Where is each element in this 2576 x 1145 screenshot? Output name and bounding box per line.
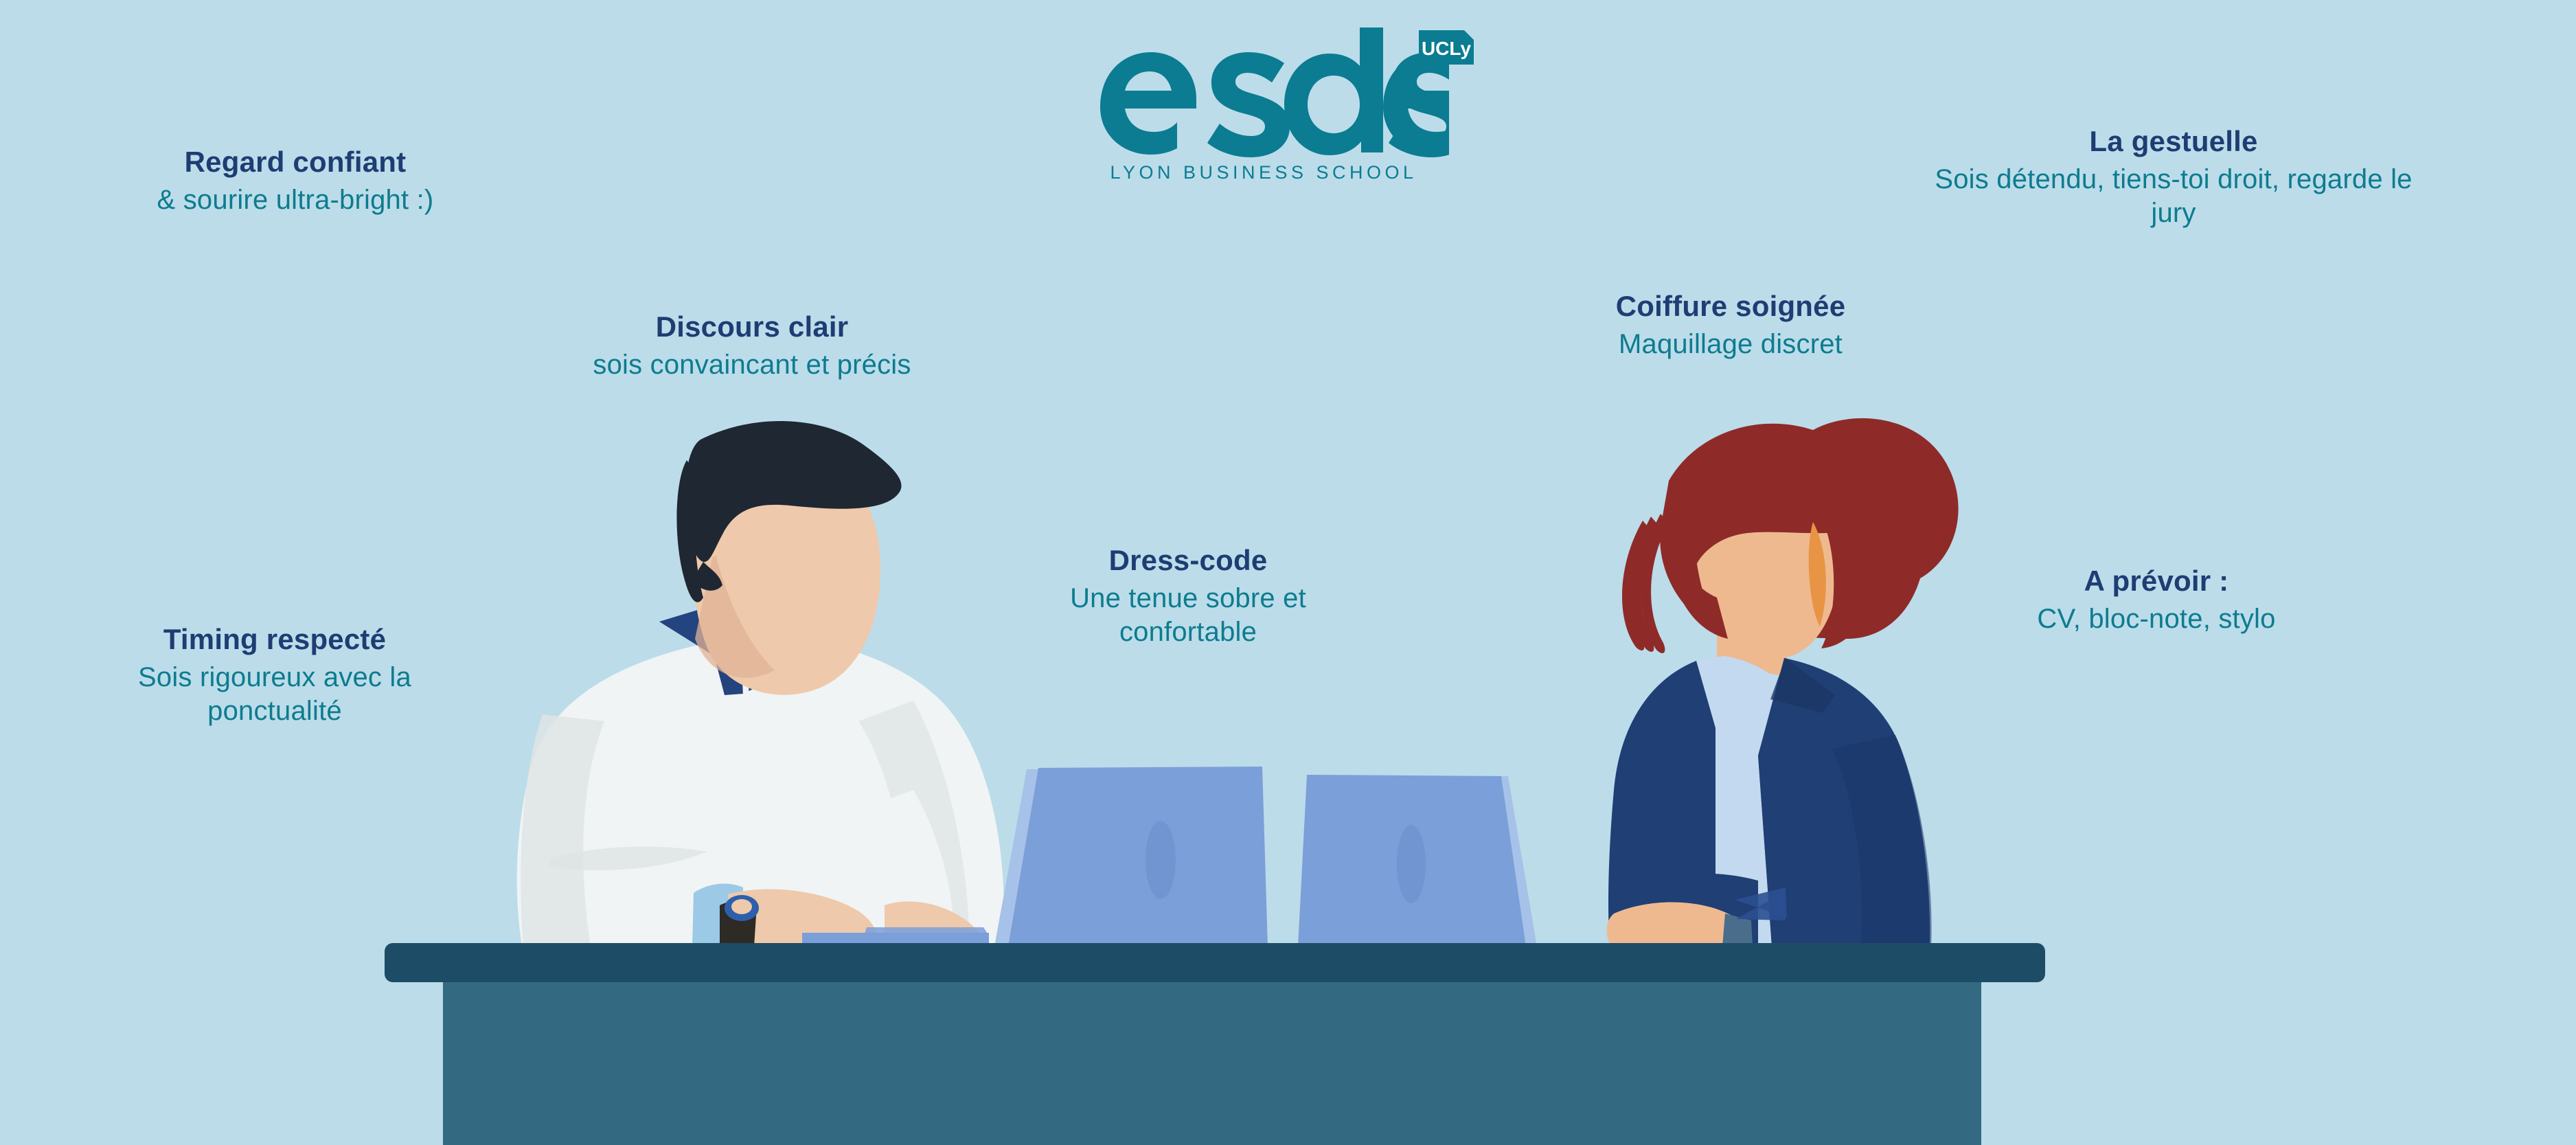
tip-coiffure-soignee: Coiffure soignée Maquillage discret	[1549, 288, 1913, 361]
tip-a-prevoir: A prévoir : CV, bloc-note, stylo	[1968, 563, 2345, 636]
tip-body: Sois rigoureux avec la ponctualité	[76, 661, 474, 728]
esdes-tagline: LYON BUSINESS SCHOOL	[1092, 162, 1435, 183]
tip-body: sois convaincant et précis	[529, 348, 975, 382]
tip-body: CV, bloc-note, stylo	[1968, 602, 2345, 636]
esdes-logo: UCLy LYON BUSINESS SCHOOL	[1092, 27, 1477, 199]
desk-top	[385, 943, 2045, 982]
ucly-badge-label: UCLy	[1422, 38, 1472, 59]
tip-body: & sourire ultra-bright :)	[82, 183, 508, 217]
tip-timing-respecte: Timing respecté Sois rigoureux avec la p…	[76, 622, 474, 728]
tip-title: A prévoir :	[1968, 563, 2345, 598]
tip-body: Maquillage discret	[1549, 328, 1913, 361]
tip-title: Discours clair	[529, 309, 975, 344]
tip-body: Une tenue sobre et confortable	[1010, 582, 1367, 649]
tip-discours-clair: Discours clair sois convaincant et préci…	[529, 309, 975, 382]
tip-title: La gestuelle	[1923, 124, 2424, 159]
tip-regard-confiant: Regard confiant & sourire ultra-bright :…	[82, 144, 508, 217]
laptop-left	[994, 767, 1268, 946]
esdes-wordmark	[1092, 27, 1449, 165]
infographic-canvas: UCLy LYON BUSINESS SCHOOL Regard confian…	[0, 0, 2576, 1145]
tip-title: Timing respecté	[76, 622, 474, 657]
desk-front-panel	[443, 982, 1981, 1145]
tip-title: Coiffure soignée	[1549, 288, 1913, 324]
tip-title: Regard confiant	[82, 144, 508, 179]
tip-la-gestuelle: La gestuelle Sois détendu, tiens-toi dro…	[1923, 124, 2424, 230]
ucly-badge: UCLy	[1419, 30, 1474, 65]
tip-body: Sois détendu, tiens-toi droit, regarde l…	[1923, 163, 2424, 230]
tip-dress-code: Dress-code Une tenue sobre et confortabl…	[1010, 543, 1367, 649]
desk	[385, 943, 2045, 1145]
tip-title: Dress-code	[1010, 543, 1367, 578]
laptop-right	[1298, 775, 1537, 946]
